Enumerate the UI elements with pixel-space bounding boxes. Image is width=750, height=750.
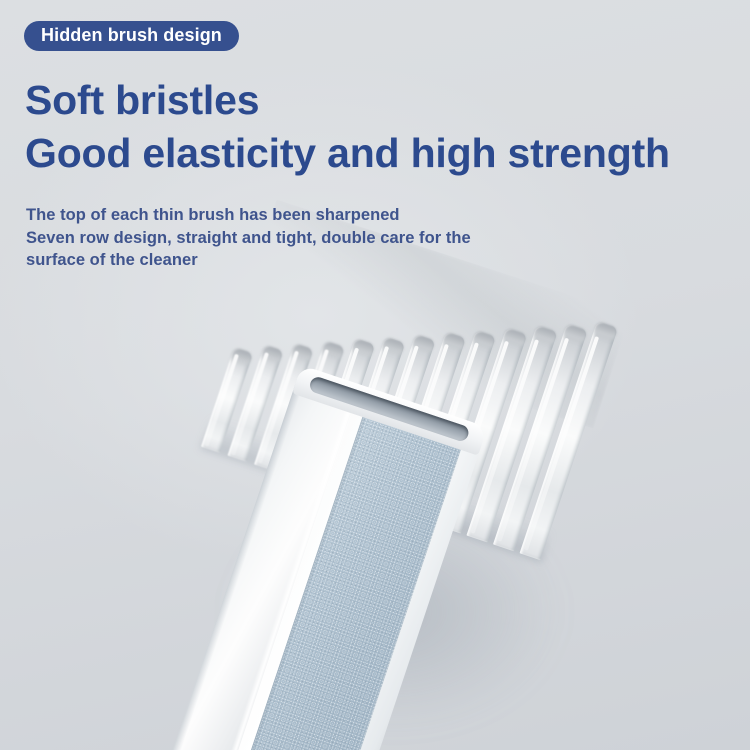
headline-primary: Soft bristles (25, 80, 259, 121)
body-copy: The top of each thin brush has been shar… (26, 204, 471, 272)
body-copy-line-1: The top of each thin brush has been shar… (26, 204, 471, 227)
headline-secondary: Good elasticity and high strength (25, 133, 670, 174)
feature-badge-label: Hidden brush design (41, 25, 222, 46)
body-copy-line-2: Seven row design, straight and tight, do… (26, 227, 471, 250)
feature-badge: Hidden brush design (24, 21, 239, 51)
body-copy-line-3: surface of the cleaner (26, 249, 471, 272)
product-marketing-image: Hidden brush design Soft bristles Good e… (0, 0, 750, 750)
